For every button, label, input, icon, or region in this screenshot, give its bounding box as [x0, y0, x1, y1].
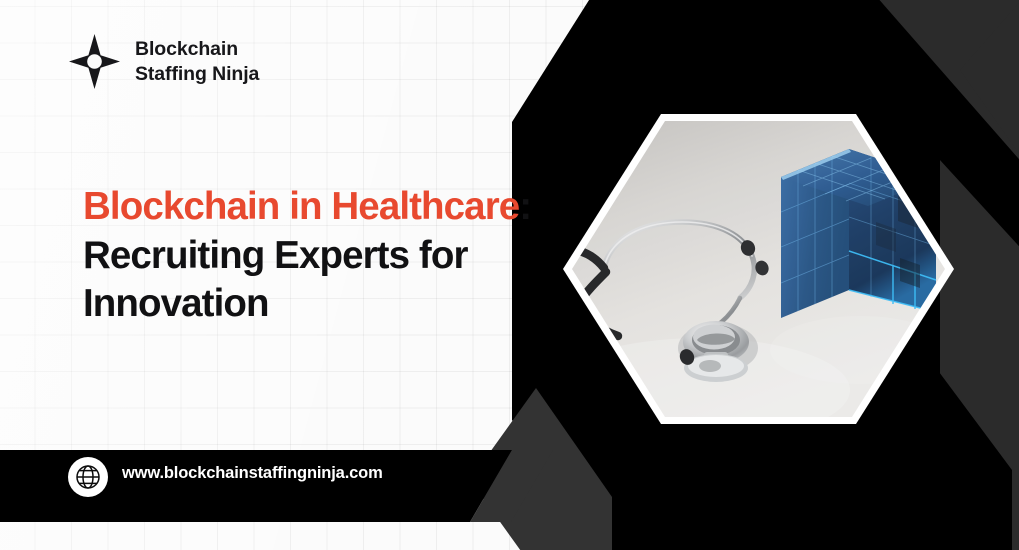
- globe-icon: [68, 457, 108, 497]
- banner-canvas: Blockchain Staffing Ninja Blockchain in …: [0, 0, 1019, 550]
- website-url[interactable]: www.blockchainstaffingninja.com: [122, 465, 383, 482]
- footer-bar: www.blockchainstaffingninja.com: [0, 0, 1019, 550]
